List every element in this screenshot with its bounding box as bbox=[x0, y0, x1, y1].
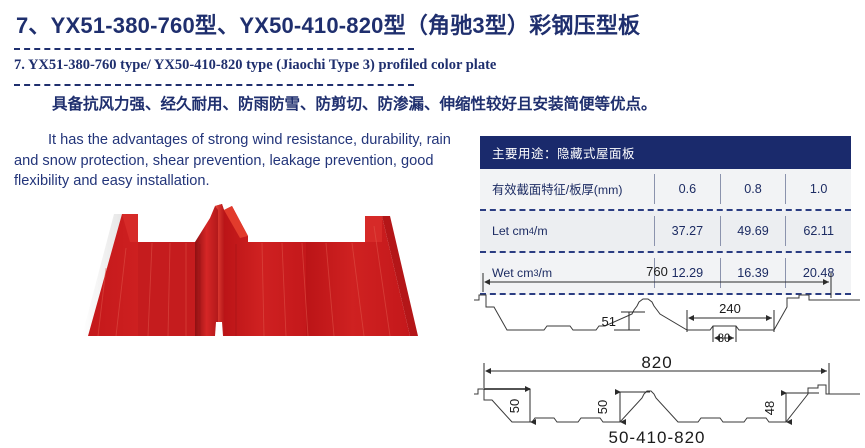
subtitle-chinese: 具备抗风力强、经久耐用、防雨防雪、防剪切、防渗漏、伸缩性较好且安装简便等优点。 bbox=[52, 92, 657, 114]
technical-drawing-760: 760 51 240 80 bbox=[474, 262, 860, 348]
product-photo-red-panel bbox=[10, 196, 470, 336]
drawing-caption: 50-410-820 bbox=[609, 428, 706, 446]
spec-row-label-text: Let cm bbox=[492, 224, 529, 238]
page-title-english: 7. YX51-380-760 type/ YX50-410-820 type … bbox=[14, 57, 496, 74]
description-english: It has the advantages of strong wind res… bbox=[14, 130, 459, 192]
dim-mid-50-label: 50 bbox=[595, 400, 610, 414]
spec-table-header: 主要用途：隐藏式屋面板 bbox=[480, 136, 851, 169]
spec-row-label: 有效截面特征/板厚(mm) bbox=[480, 169, 654, 209]
dim-760-label: 760 bbox=[646, 264, 668, 279]
spec-cell: 49.69 bbox=[720, 216, 786, 246]
table-row: Let cm4/m 37.27 49.69 62.11 bbox=[480, 211, 851, 253]
spec-cell: 0.6 bbox=[654, 174, 720, 204]
spec-cell: 37.27 bbox=[654, 216, 720, 246]
dim-240-label: 240 bbox=[719, 301, 741, 316]
spec-cell: 62.11 bbox=[785, 216, 851, 246]
table-row: 有效截面特征/板厚(mm) 0.6 0.8 1.0 bbox=[480, 169, 851, 211]
dim-51-label: 51 bbox=[602, 314, 616, 329]
technical-drawing-820: 820 50 50 48 50-410-820 bbox=[474, 348, 860, 446]
spec-row-label: Let cm4/m bbox=[480, 211, 654, 251]
page-title-chinese: 7、YX51-380-760型、YX50-410-820型（角驰3型）彩钢压型板 bbox=[16, 8, 640, 40]
spec-row-label-suffix: /m bbox=[534, 224, 548, 238]
dim-left-50-label: 50 bbox=[507, 399, 522, 413]
spec-cell: 1.0 bbox=[785, 174, 851, 204]
spec-cell: 0.8 bbox=[720, 174, 786, 204]
divider-bottom bbox=[14, 84, 414, 86]
dim-820-label: 820 bbox=[641, 353, 672, 372]
dim-right-48-label: 48 bbox=[762, 401, 777, 415]
page-root: 7、YX51-380-760型、YX50-410-820型（角驰3型）彩钢压型板… bbox=[0, 0, 865, 448]
dim-80-label: 80 bbox=[718, 333, 731, 345]
divider-top bbox=[14, 48, 414, 50]
